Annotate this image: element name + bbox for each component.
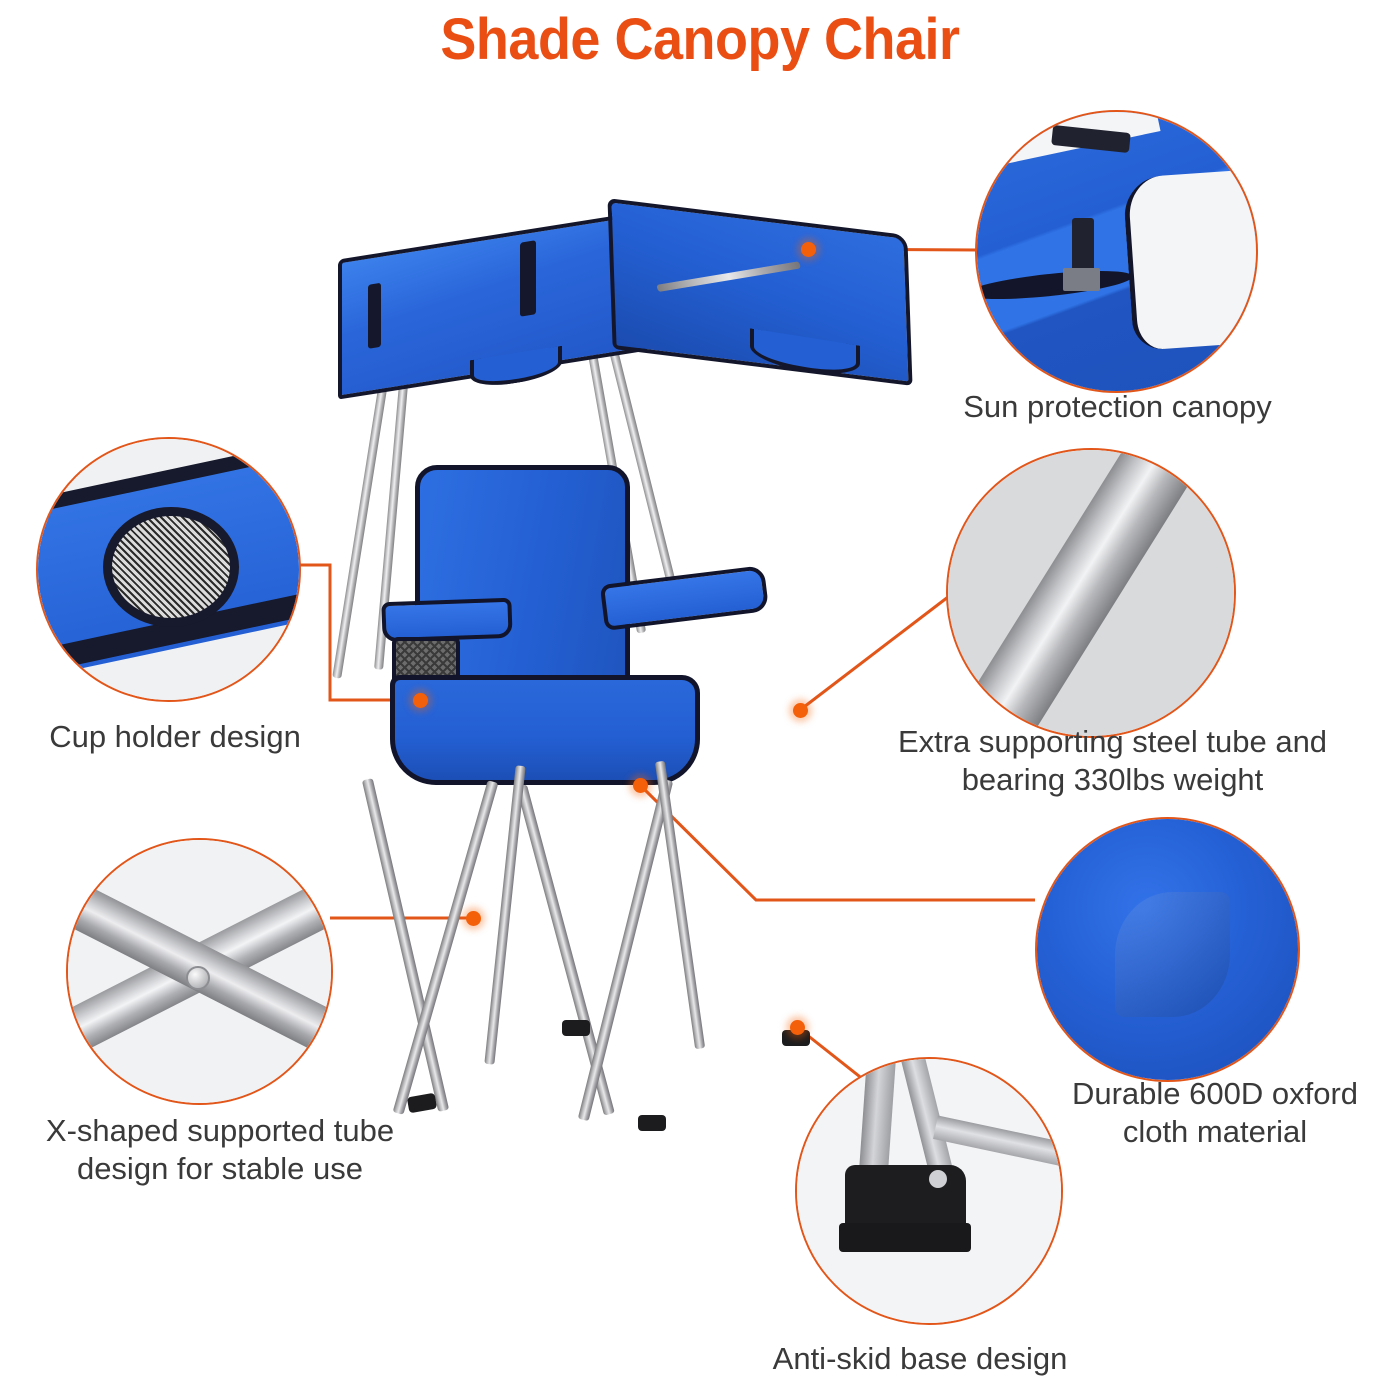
marker-dot-anti-skid: [790, 1020, 805, 1035]
infographic-canvas: Shade Canopy Chair: [0, 0, 1400, 1400]
caption-sun-protection-canopy: Sun protection canopy: [900, 388, 1335, 426]
caption-cup-holder-design: Cup holder design: [0, 718, 350, 756]
marker-dot-oxford-cloth: [633, 778, 648, 793]
detail-circle-anti-skid-base: [795, 1057, 1063, 1325]
chair-seat: [390, 675, 700, 785]
marker-dot-canopy: [801, 242, 816, 257]
page-title: Shade Canopy Chair: [49, 6, 1351, 73]
caption-anti-skid-base: Anti-skid base design: [700, 1340, 1140, 1378]
caption-durable-oxford-cloth: Durable 600D oxford cloth material: [1030, 1075, 1400, 1151]
product-photo-canopy-chair: [330, 175, 890, 1135]
marker-dot-cup-holder: [413, 693, 428, 708]
detail-circle-durable-oxford-cloth: [1035, 817, 1300, 1082]
caption-x-shaped-supported-tube: X-shaped supported tube design for stabl…: [0, 1112, 440, 1188]
caption-extra-supporting-steel-tube: Extra supporting steel tube and bearing …: [840, 723, 1385, 799]
detail-circle-extra-supporting-steel-tube: [946, 448, 1236, 738]
canopy-panel-right: [607, 198, 912, 386]
marker-dot-x-frame: [466, 911, 481, 926]
detail-circle-cup-holder-design: [36, 437, 301, 702]
marker-dot-steel-tube: [793, 703, 808, 718]
detail-circle-x-shaped-supported-tube: [66, 838, 333, 1105]
detail-circle-sun-protection-canopy: [975, 110, 1258, 393]
armrest-left: [381, 598, 512, 643]
